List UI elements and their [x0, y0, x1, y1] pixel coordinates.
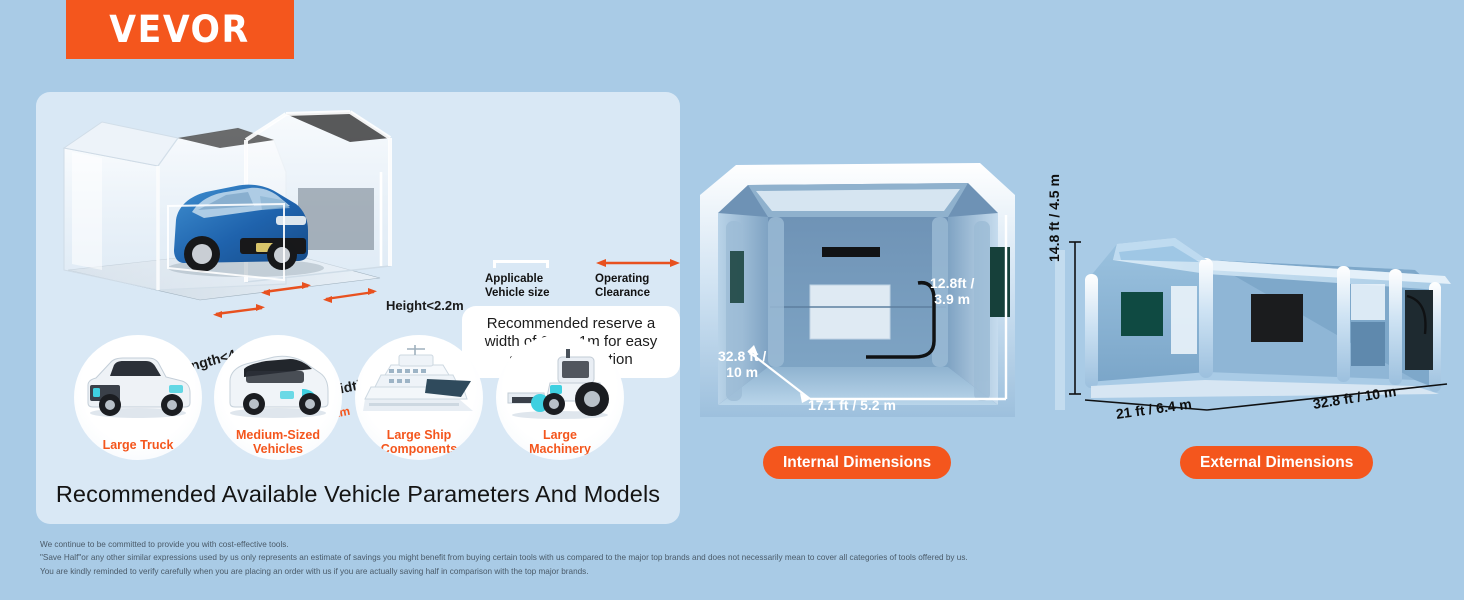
- external-dimensions-badge[interactable]: External Dimensions: [1180, 446, 1373, 479]
- disclaimer-line-2: "Save Half"or any other similar expressi…: [40, 551, 1420, 564]
- category-medium-vehicles[interactable]: Medium-Sized Vehicles: [214, 335, 342, 460]
- internal-depth-line2: 10 m: [718, 364, 766, 380]
- category-label-line1: Large: [496, 428, 624, 443]
- tractor-icon: [496, 341, 624, 425]
- vevor-logo: VEVOR: [66, 0, 294, 59]
- category-label: Large Truck: [74, 438, 202, 453]
- vehicle-in-booth-illustration: Height<2.2m Length<4m Width<1.75m 0.5m-1…: [50, 100, 470, 330]
- category-label-line2: Components: [355, 442, 483, 457]
- legend-item-applicable: Applicable Vehicle size: [485, 256, 571, 301]
- category-label: Large Machinery: [496, 428, 624, 458]
- legend-label-line1: Applicable: [485, 272, 571, 286]
- orange-double-arrow-icon: [595, 258, 680, 268]
- minivan-icon: [214, 341, 342, 425]
- category-label-line2: Machinery: [496, 442, 624, 457]
- legend-marker-wrap: [595, 256, 680, 268]
- vehicle-parameters-card: Height<2.2m Length<4m Width<1.75m 0.5m-1…: [36, 92, 680, 524]
- category-label: Large Ship Components: [355, 428, 483, 458]
- category-label-line2: Vehicles: [214, 442, 342, 457]
- disclaimer-line-3: You are kindly reminded to verify carefu…: [40, 565, 1420, 578]
- card-caption: Recommended Available Vehicle Parameters…: [36, 481, 680, 508]
- external-booth-photo: [1055, 230, 1455, 435]
- category-large-ship[interactable]: Large Ship Components: [355, 335, 483, 460]
- internal-height-line2: 3.9 m: [930, 291, 974, 307]
- category-large-truck[interactable]: Large Truck: [74, 335, 202, 460]
- legend-item-clearance: Operating Clearance: [595, 256, 680, 301]
- label-height-limit: Height<2.2m: [386, 298, 464, 313]
- category-large-machinery[interactable]: Large Machinery: [496, 335, 624, 460]
- category-label-line1: Large Ship: [355, 428, 483, 443]
- pickup-truck-icon: [74, 341, 202, 425]
- disclaimer-line-1: We continue to be committed to provide y…: [40, 538, 1420, 551]
- internal-height-line1: 12.8ft /: [930, 275, 974, 291]
- internal-dimensions-badge[interactable]: Internal Dimensions: [763, 446, 951, 479]
- internal-depth-line1: 32.8 ft /: [718, 348, 766, 364]
- internal-height-label: 12.8ft / 3.9 m: [930, 275, 974, 307]
- brand-name: VEVOR: [110, 8, 250, 51]
- category-label-line1: Medium-Sized: [214, 428, 342, 443]
- category-label: Medium-Sized Vehicles: [214, 428, 342, 458]
- disclaimer-footer: We continue to be committed to provide y…: [40, 538, 1420, 578]
- external-height-label: 14.8 ft / 4.5 m: [1046, 174, 1062, 262]
- white-bracket-icon: [493, 260, 549, 268]
- internal-depth-label: 32.8 ft / 10 m: [718, 348, 766, 380]
- booth-outline-svg: [50, 100, 470, 330]
- legend-marker-wrap: [485, 256, 571, 268]
- category-label-line1: Large Truck: [74, 438, 202, 453]
- ship-icon: [355, 341, 483, 425]
- legend-label-line2: Vehicle size: [485, 286, 571, 300]
- vehicle-category-list: Large Truck Medium-Sized Vehicles: [66, 335, 666, 460]
- legend-label-line2: Clearance: [595, 286, 680, 300]
- legend-label-line1: Operating: [595, 272, 680, 286]
- infographic-canvas: VEVOR: [0, 0, 1464, 600]
- internal-width-label: 17.1 ft / 5.2 m: [808, 397, 896, 413]
- internal-booth-photo: [690, 155, 1025, 435]
